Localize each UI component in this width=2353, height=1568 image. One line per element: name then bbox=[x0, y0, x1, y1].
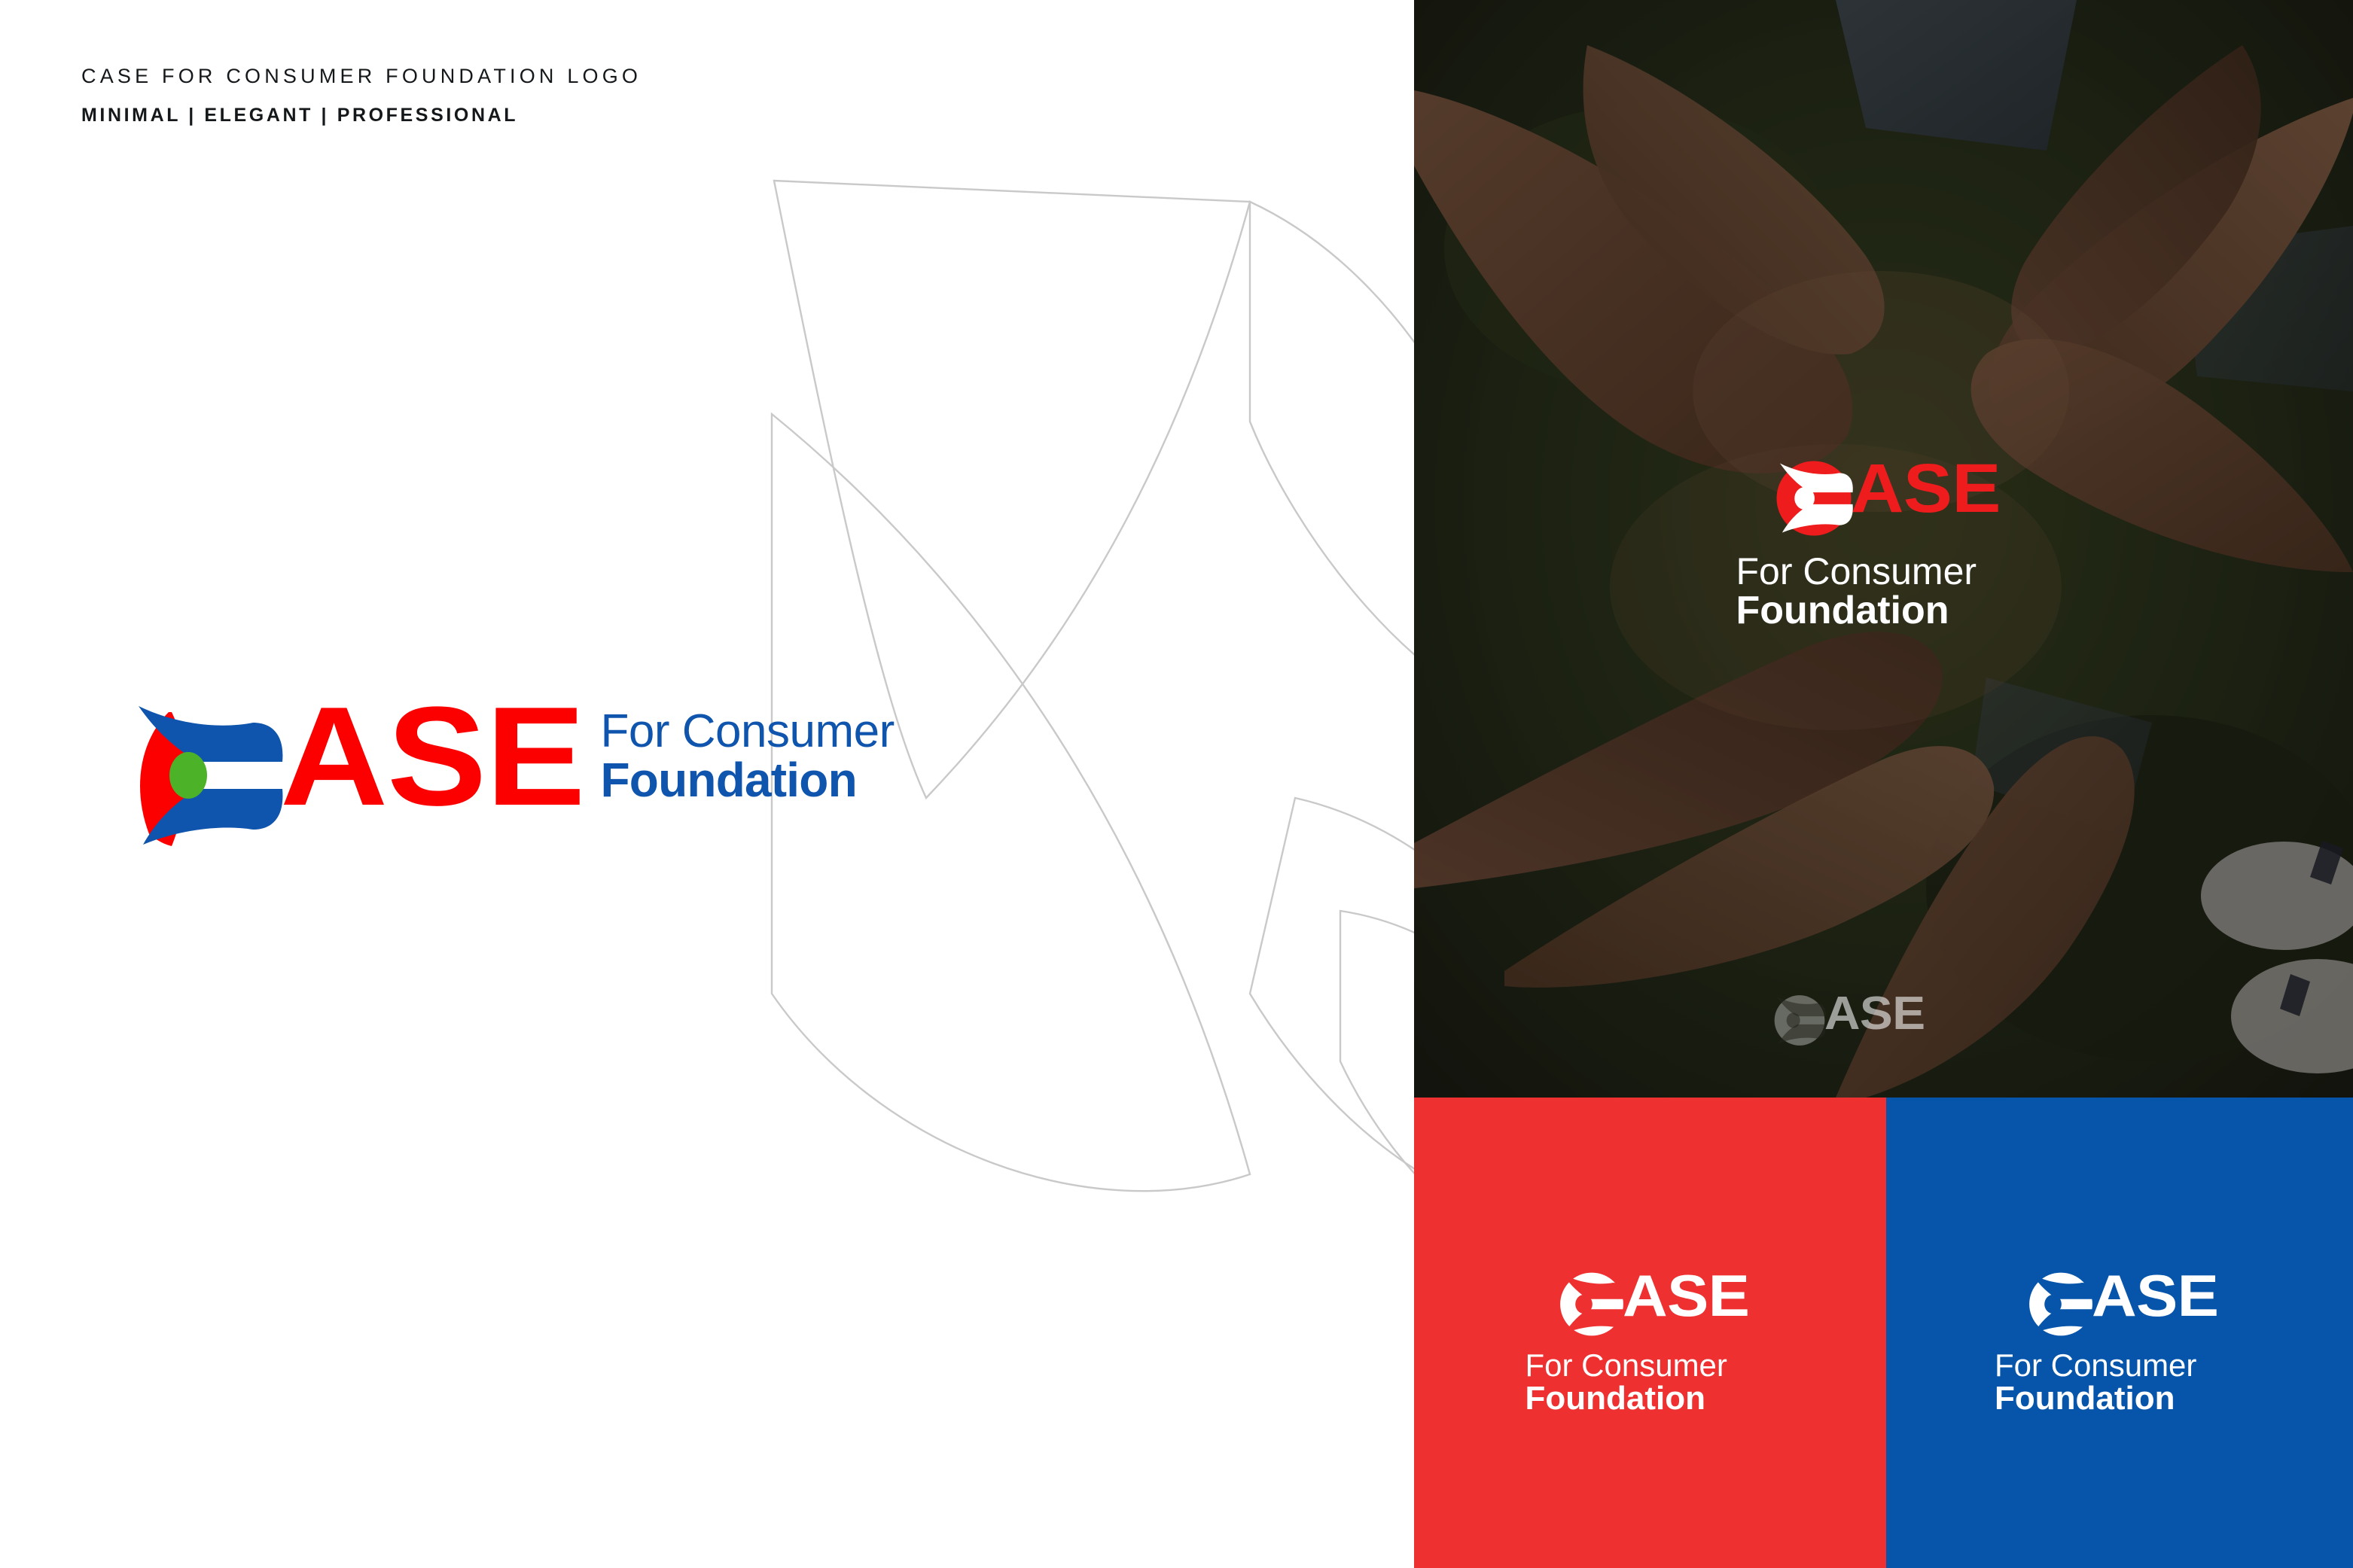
photo-tagline: For Consumer Foundation bbox=[1736, 553, 2031, 631]
photo-logo-lockup: ASE For Consumer Foundation bbox=[1414, 461, 2353, 631]
photo-watermark-logo: ASE bbox=[1773, 995, 1919, 1046]
presentation-header: CASE FOR CONSUMER FOUNDATION LOGO MINIMA… bbox=[81, 65, 642, 126]
case-logo-mark bbox=[126, 700, 285, 851]
photo-tagline-line-1: For Consumer bbox=[1736, 553, 2031, 590]
swatch-blue-tagline-line-2: Foundation bbox=[1995, 1381, 2245, 1416]
swatch-blue-tagline-line-1: For Consumer bbox=[1995, 1350, 2245, 1381]
case-logo-mark-knockout bbox=[1775, 461, 1853, 536]
swatch-red-tagline-line-1: For Consumer bbox=[1525, 1350, 1775, 1381]
page-subtitle: MINIMAL | ELEGANT | PROFESSIONAL bbox=[81, 105, 642, 126]
case-logo-mark-watermark bbox=[1773, 995, 1826, 1046]
swatch-panel-brand-blue: ASE For Consumer Foundation bbox=[1886, 1098, 2353, 1568]
photo-tagline-line-2: Foundation bbox=[1736, 590, 2031, 631]
swatch-red-lockup: ASE For Consumer Foundation bbox=[1414, 1272, 1886, 1416]
case-logo-mark-white-on-red bbox=[1559, 1272, 1625, 1336]
swatch-red-row: ASE bbox=[1559, 1272, 1742, 1336]
primary-logo-lockup: ASE For Consumer Foundation bbox=[126, 700, 895, 851]
photo-wordmark-ase-text: ASE bbox=[1851, 461, 2001, 517]
tagline-line-1: For Consumer bbox=[601, 708, 895, 755]
swatch-red-tagline: For Consumer Foundation bbox=[1525, 1350, 1775, 1416]
tagline-line-2: Foundation bbox=[601, 755, 895, 805]
swatch-blue-lockup: ASE For Consumer Foundation bbox=[1886, 1272, 2353, 1416]
wordmark-ase-text: ASE bbox=[280, 700, 584, 813]
photo-lockup-row: ASE bbox=[1775, 461, 1992, 536]
swatch-blue-row: ASE bbox=[2028, 1272, 2211, 1336]
swatch-red-tagline-line-2: Foundation bbox=[1525, 1381, 1775, 1416]
logo-presentation-panel: CASE FOR CONSUMER FOUNDATION LOGO MINIMA… bbox=[0, 0, 1414, 1568]
primary-tagline: For Consumer Foundation bbox=[601, 700, 895, 805]
photo-watermark-ase-text: ASE bbox=[1824, 995, 1925, 1034]
swatch-blue-wordmark-ase: ASE bbox=[2092, 1272, 2218, 1320]
swatch-red-wordmark-ase: ASE bbox=[1623, 1272, 1749, 1320]
case-logo-mark-white-on-blue bbox=[2028, 1272, 2094, 1336]
swatch-panel-brand-red: ASE For Consumer Foundation bbox=[1414, 1098, 1886, 1568]
page-title: CASE FOR CONSUMER FOUNDATION LOGO bbox=[81, 65, 642, 88]
swatch-blue-tagline: For Consumer Foundation bbox=[1995, 1350, 2245, 1416]
primary-wordmark: ASE For Consumer Foundation bbox=[280, 700, 895, 813]
